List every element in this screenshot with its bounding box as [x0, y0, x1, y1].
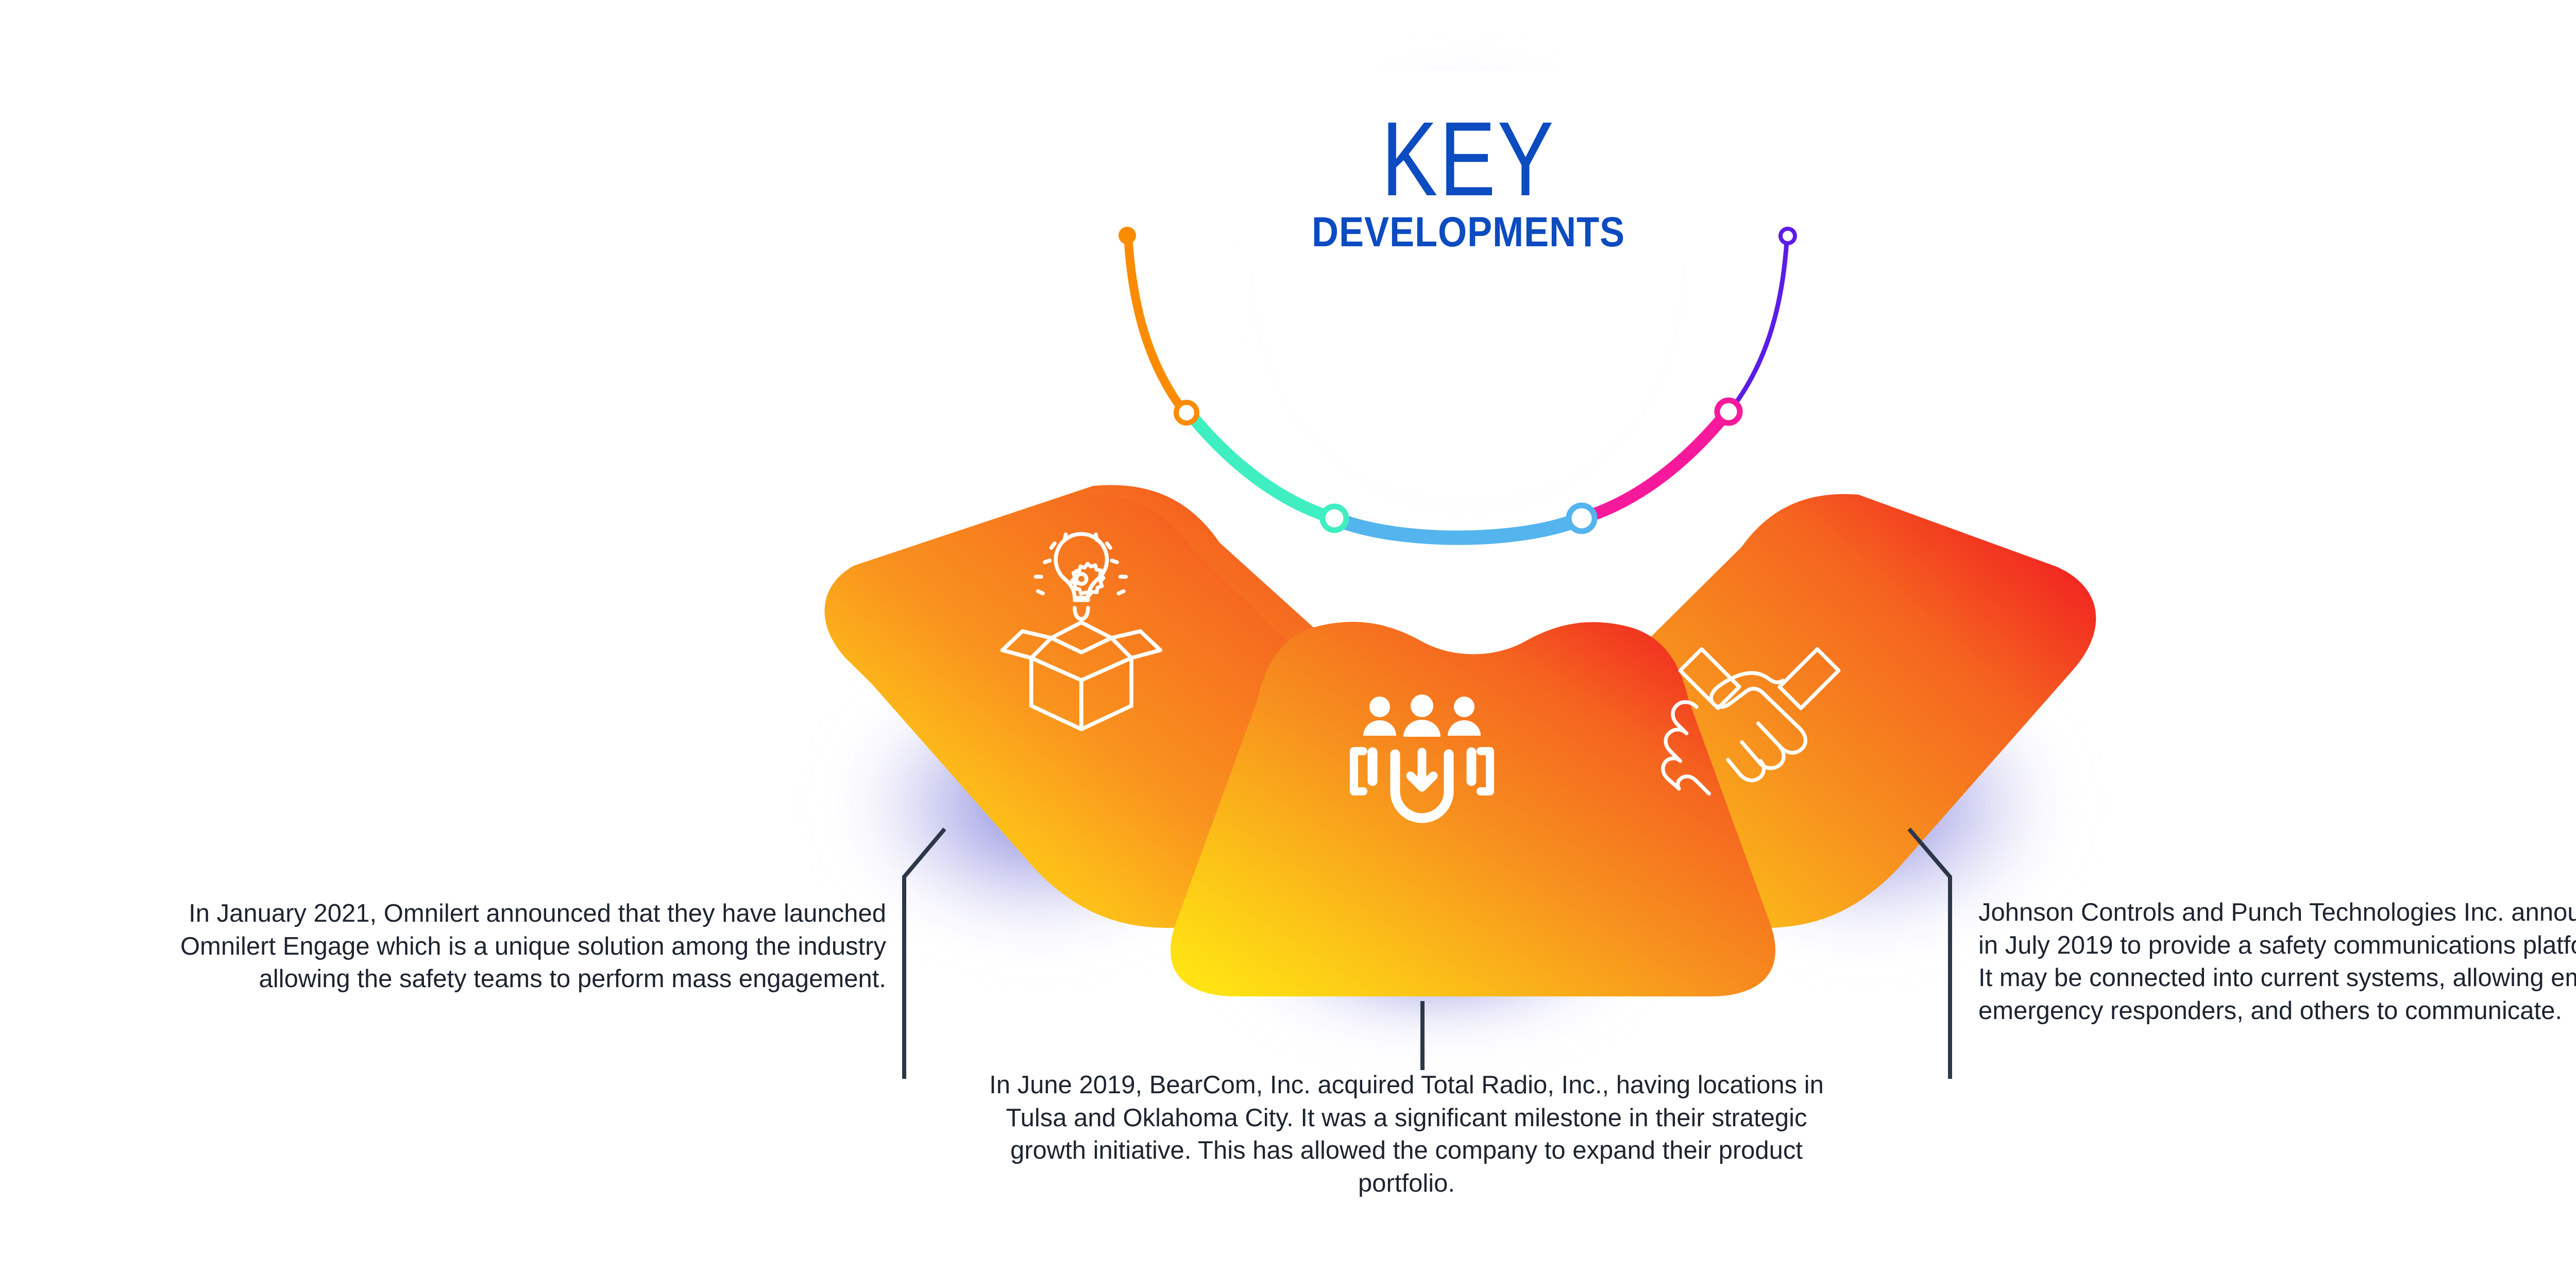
card-partnership-text: Johnson Controls and Punch Technologies …	[1978, 896, 2576, 1028]
node-orange-teal	[1176, 402, 1197, 423]
arc-segment-orange	[1128, 240, 1182, 410]
arc-segment-purple	[1732, 241, 1787, 408]
card-acquisition-text: In June 2019, BearCom, Inc. acquired Tot…	[969, 1069, 1844, 1200]
card-product-launch-text: In January 2021, Omnilert announced that…	[93, 897, 886, 996]
page-title: KEY DEVELOPMENTS	[1170, 111, 1767, 253]
node-start-orange	[1118, 227, 1136, 244]
title-line-key: KEY	[1229, 111, 1707, 208]
infographic-canvas: KEY DEVELOPMENTS In January 2021, Omnile…	[0, 0, 2576, 1288]
node-magenta-purple	[1717, 400, 1740, 423]
node-end-purple	[1781, 229, 1795, 243]
node-teal-blue	[1323, 506, 1346, 530]
node-blue-magenta	[1569, 505, 1595, 531]
title-line-developments: DEVELOPMENTS	[1206, 211, 1732, 253]
